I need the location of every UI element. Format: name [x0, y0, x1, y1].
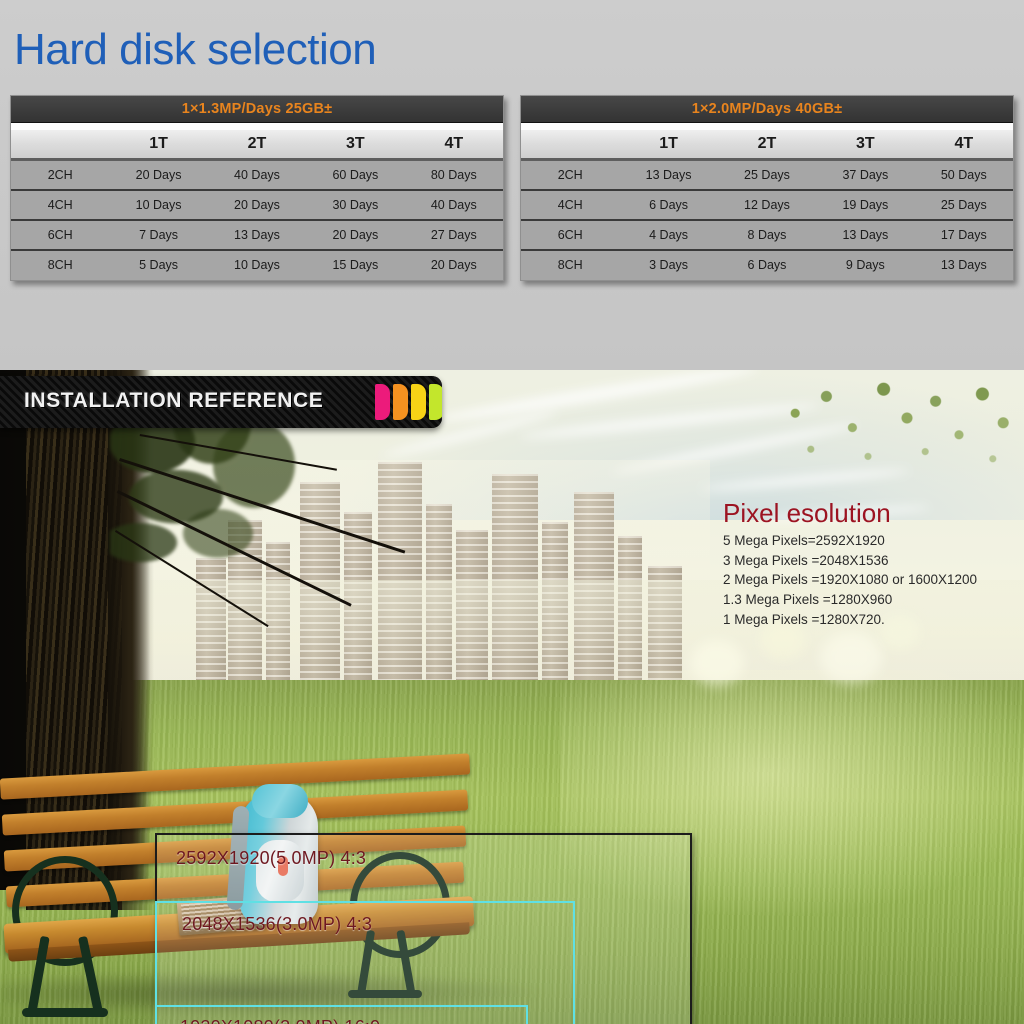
page-title: Hard disk selection: [14, 28, 376, 72]
table-row: 8CH 5 Days 10 Days 15 Days 20 Days: [11, 250, 503, 280]
cell-4ch-2t: 20 Days: [208, 190, 306, 220]
resolution-label-5mp: 2592X1920(5.0MP) 4:3: [176, 848, 366, 869]
installation-reference-photo: 2592X1920(5.0MP) 4:3 2048X1536(3.0MP) 4:…: [0, 370, 1024, 1024]
cell-2ch-3t: 37 Days: [816, 160, 914, 190]
cell-4ch-1t: 6 Days: [619, 190, 717, 220]
column-header-4t: 4T: [915, 130, 1013, 160]
pixel-resolution-legend: Pixel esolution 5 Mega Pixels=2592X1920 …: [723, 500, 1023, 629]
table-header-row: 1T 2T 3T 4T: [11, 130, 503, 160]
table-header-row: 1T 2T 3T 4T: [521, 130, 1013, 160]
row-header-8ch: 8CH: [521, 250, 619, 280]
column-header-3t: 3T: [816, 130, 914, 160]
resolution-label-3mp: 2048X1536(3.0MP) 4:3: [182, 914, 372, 935]
resolution-label-2mp: 1920X1080(2.0MP) 16:9: [180, 1017, 380, 1024]
pixel-resolution-line: 5 Mega Pixels=2592X1920: [723, 531, 1023, 551]
cell-6ch-2t: 8 Days: [718, 220, 816, 250]
cell-2ch-2t: 25 Days: [718, 160, 816, 190]
cell-2ch-4t: 50 Days: [915, 160, 1013, 190]
disk-table-1-strip: [11, 123, 503, 130]
cell-6ch-4t: 17 Days: [915, 220, 1013, 250]
disk-table-2: 1×2.0MP/Days 40GB± 1T 2T 3T 4T 2CH 13 Da…: [520, 95, 1014, 281]
table-row: 6CH 4 Days 8 Days 13 Days 17 Days: [521, 220, 1013, 250]
hard-disk-selection-section: Hard disk selection 1×1.3MP/Days 25GB± 1…: [0, 0, 1024, 370]
cell-8ch-4t: 13 Days: [915, 250, 1013, 280]
table-row: 2CH 20 Days 40 Days 60 Days 80 Days: [11, 160, 503, 190]
lens-flare: [690, 640, 744, 686]
cell-2ch-1t: 20 Days: [109, 160, 207, 190]
cell-4ch-2t: 12 Days: [718, 190, 816, 220]
banner-bar-green: [429, 384, 442, 420]
cell-6ch-2t: 13 Days: [208, 220, 306, 250]
hanging-leaves: [764, 370, 1024, 490]
banner-label: INSTALLATION REFERENCE: [24, 389, 323, 413]
row-header-6ch: 6CH: [11, 220, 109, 250]
disk-table-1: 1×1.3MP/Days 25GB± 1T 2T 3T 4T 2CH 20 Da…: [10, 95, 504, 281]
cell-2ch-2t: 40 Days: [208, 160, 306, 190]
cell-2ch-1t: 13 Days: [619, 160, 717, 190]
cell-4ch-1t: 10 Days: [109, 190, 207, 220]
disk-table-1-title: 1×1.3MP/Days 25GB±: [11, 96, 503, 123]
cell-8ch-2t: 10 Days: [208, 250, 306, 280]
table-row: 2CH 13 Days 25 Days 37 Days 50 Days: [521, 160, 1013, 190]
cell-8ch-1t: 3 Days: [619, 250, 717, 280]
cell-6ch-1t: 7 Days: [109, 220, 207, 250]
cell-6ch-4t: 27 Days: [405, 220, 503, 250]
pixel-resolution-line: 2 Mega Pixels =1920X1080 or 1600X1200: [723, 570, 1023, 590]
row-header-2ch: 2CH: [521, 160, 619, 190]
cell-8ch-2t: 6 Days: [718, 250, 816, 280]
table-row: 8CH 3 Days 6 Days 9 Days 13 Days: [521, 250, 1013, 280]
table-corner-header: [521, 130, 619, 160]
cell-2ch-4t: 80 Days: [405, 160, 503, 190]
cell-4ch-4t: 40 Days: [405, 190, 503, 220]
cell-4ch-3t: 30 Days: [306, 190, 404, 220]
disk-table-1-grid: 1T 2T 3T 4T 2CH 20 Days 40 Days 60 Days …: [11, 130, 503, 280]
row-header-4ch: 4CH: [11, 190, 109, 220]
cell-8ch-3t: 15 Days: [306, 250, 404, 280]
disk-table-2-grid: 1T 2T 3T 4T 2CH 13 Days 25 Days 37 Days …: [521, 130, 1013, 280]
column-header-2t: 2T: [208, 130, 306, 160]
pixel-resolution-title: Pixel esolution: [723, 500, 1023, 527]
cell-6ch-3t: 13 Days: [816, 220, 914, 250]
disk-table-2-strip: [521, 123, 1013, 130]
column-header-4t: 4T: [405, 130, 503, 160]
column-header-3t: 3T: [306, 130, 404, 160]
bench-foot: [22, 1008, 108, 1017]
row-header-8ch: 8CH: [11, 250, 109, 280]
banner-bar-yellow: [411, 384, 426, 420]
banner-bar-orange: [393, 384, 408, 420]
cell-8ch-3t: 9 Days: [816, 250, 914, 280]
tree-canopy: [110, 400, 410, 630]
row-header-2ch: 2CH: [11, 160, 109, 190]
disk-table-2-title: 1×2.0MP/Days 40GB±: [521, 96, 1013, 123]
column-header-1t: 1T: [109, 130, 207, 160]
cell-4ch-3t: 19 Days: [816, 190, 914, 220]
cell-8ch-1t: 5 Days: [109, 250, 207, 280]
row-header-6ch: 6CH: [521, 220, 619, 250]
installation-reference-banner: INSTALLATION REFERENCE: [0, 376, 442, 428]
table-row: 4CH 6 Days 12 Days 19 Days 25 Days: [521, 190, 1013, 220]
table-row: 4CH 10 Days 20 Days 30 Days 40 Days: [11, 190, 503, 220]
table-corner-header: [11, 130, 109, 160]
cell-6ch-3t: 20 Days: [306, 220, 404, 250]
column-header-1t: 1T: [619, 130, 717, 160]
banner-bar-magenta: [375, 384, 390, 420]
table-row: 6CH 7 Days 13 Days 20 Days 27 Days: [11, 220, 503, 250]
backpack-top-flap: [252, 784, 308, 818]
column-header-2t: 2T: [718, 130, 816, 160]
cell-6ch-1t: 4 Days: [619, 220, 717, 250]
cell-8ch-4t: 20 Days: [405, 250, 503, 280]
cell-4ch-4t: 25 Days: [915, 190, 1013, 220]
pixel-resolution-line: 1.3 Mega Pixels =1280X960: [723, 590, 1023, 610]
row-header-4ch: 4CH: [521, 190, 619, 220]
pixel-resolution-line: 3 Mega Pixels =2048X1536: [723, 551, 1023, 571]
lens-flare: [820, 632, 882, 684]
pixel-resolution-line: 1 Mega Pixels =1280X720.: [723, 610, 1023, 630]
cell-2ch-3t: 60 Days: [306, 160, 404, 190]
